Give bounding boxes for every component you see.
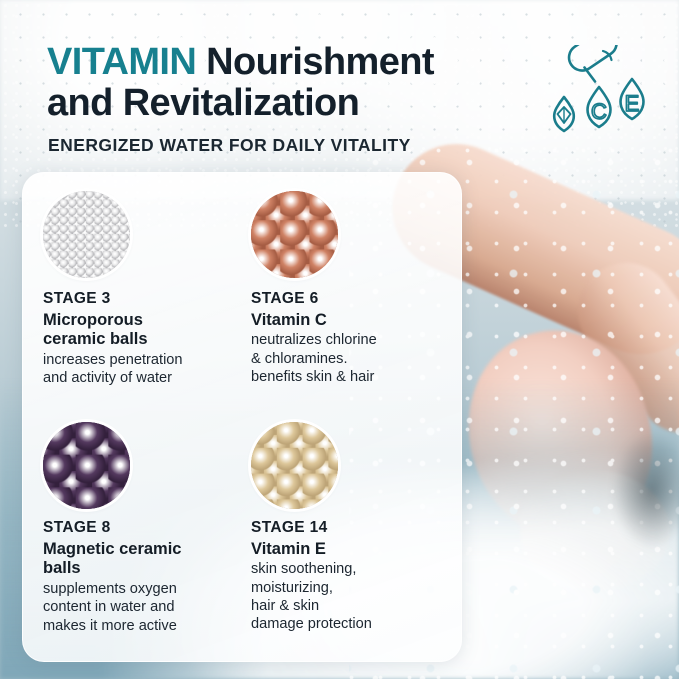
droplet-vitamin-c-icon: C	[588, 87, 611, 127]
stage-description: supplements oxygen content in water and …	[43, 580, 237, 635]
desc-line1: increases penetration	[43, 352, 183, 368]
desc-line4: damage protection	[251, 616, 372, 632]
stages-grid: STAGE 3 Microporous ceramic balls increa…	[23, 173, 461, 661]
stage-name: Vitamin E	[251, 540, 445, 559]
stage-name: Vitamin C	[251, 311, 445, 330]
desc-line3: hair & skin	[251, 598, 319, 614]
droplet-mineral-icon	[554, 97, 574, 131]
vitamin-e-balls-photo	[251, 422, 338, 509]
stages-panel: STAGE 3 Microporous ceramic balls increa…	[22, 172, 462, 662]
desc-line1: supplements oxygen	[43, 581, 177, 597]
droplet-e-label: E	[625, 91, 640, 116]
stage-card-8[interactable]: STAGE 8 Magnetic ceramic balls supplemen…	[43, 422, 237, 647]
stage-card-3[interactable]: STAGE 3 Microporous ceramic balls increa…	[43, 191, 237, 416]
stage-name: Microporous ceramic balls	[43, 311, 237, 350]
stage-description: skin soothening, moisturizing, hair & sk…	[251, 560, 445, 634]
stage-name-line1: Magnetic ceramic	[43, 540, 181, 558]
desc-line2: moisturizing,	[251, 580, 333, 596]
page-subtitle: ENERGIZED WATER FOR DAILY VITALITY	[48, 135, 411, 156]
desc-line3: makes it more active	[43, 618, 177, 634]
capsule-pill-icon	[564, 45, 622, 82]
stage-name: Magnetic ceramic balls	[43, 540, 237, 579]
desc-line3: benefits skin & hair	[251, 369, 374, 385]
stage-card-14[interactable]: STAGE 14 Vitamin E skin soothening, mois…	[251, 422, 445, 647]
page-title: VITAMIN Nourishment and Revitalization	[47, 42, 567, 124]
stage-label: STAGE 3	[43, 290, 237, 308]
infographic-root: VITAMIN Nourishment and Revitalization E…	[0, 0, 679, 679]
stage-name-line2: ceramic balls	[43, 330, 148, 348]
title-rest: Nourishment	[196, 41, 434, 83]
magnetic-ceramic-balls-photo	[43, 422, 130, 509]
stage-description: increases penetration and activity of wa…	[43, 351, 237, 388]
stage-label: STAGE 8	[43, 519, 237, 537]
title-highlight: VITAMIN	[47, 41, 196, 83]
droplet-vitamin-e-icon: E	[621, 79, 644, 119]
microporous-ceramic-balls-photo	[43, 191, 130, 278]
stage-label: STAGE 14	[251, 519, 445, 537]
stage-name-line1: Microporous	[43, 311, 143, 329]
stage-label: STAGE 6	[251, 290, 445, 308]
desc-line2: & chloramines.	[251, 351, 348, 367]
desc-line1: skin soothening,	[251, 561, 356, 577]
desc-line1: neutralizes chlorine	[251, 332, 377, 348]
stage-name-line2: balls	[43, 559, 81, 577]
droplet-c-label: C	[591, 99, 607, 124]
background-shadow-patch	[612, 430, 679, 550]
stage-description: neutralizes chlorine & chloramines. bene…	[251, 331, 445, 386]
title-line-2: and Revitalization	[47, 82, 359, 124]
desc-line2: content in water and	[43, 599, 174, 615]
stage-card-6[interactable]: STAGE 6 Vitamin C neutralizes chlorine &…	[251, 191, 445, 416]
vitamin-c-balls-photo	[251, 191, 338, 278]
vitamin-icon-cluster: C E	[548, 45, 652, 139]
desc-line2: and activity of water	[43, 370, 172, 386]
